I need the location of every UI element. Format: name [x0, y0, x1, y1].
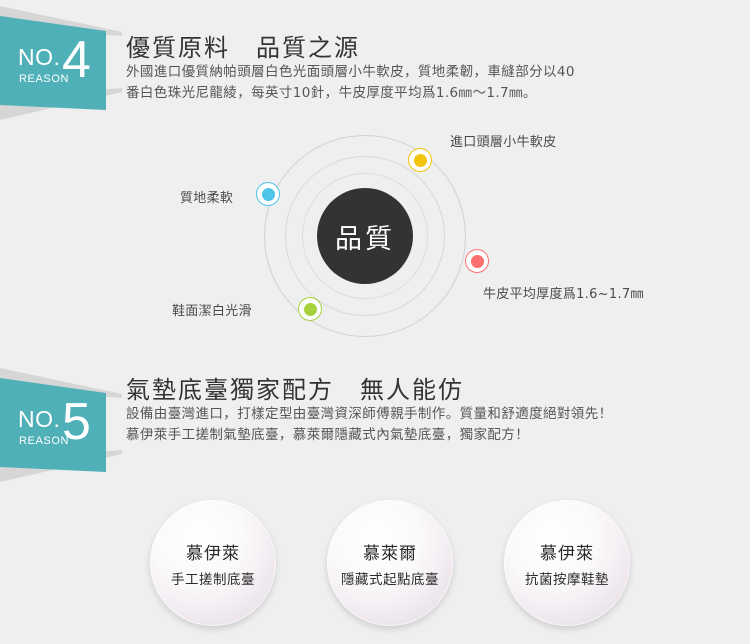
section-5-body: 設備由臺灣進口，打樣定型由臺灣資深師傅親手制作。質量和舒適度絕對領先！ 慕伊萊手…: [126, 404, 746, 446]
orbit-node-red[interactable]: [466, 250, 488, 272]
orbit-label-yellow: 進口頭層小牛軟皮: [450, 131, 556, 150]
orbit-node-yellow[interactable]: [409, 149, 431, 171]
orbit-node-green[interactable]: [299, 298, 321, 320]
orbit-node-cyan[interactable]: [257, 183, 279, 205]
pearl-card-1[interactable]: 慕伊萊 手工搓制底臺: [150, 500, 276, 626]
section-5-title: 氣墊底臺獨家配方 無人能仿: [126, 370, 464, 405]
quality-orbit-diagram: 品質: [255, 126, 475, 346]
badge-no-label: NO.: [18, 408, 60, 431]
orbit-label-red: 牛皮平均厚度爲1.6~1.7㎜: [483, 283, 644, 302]
badge-no-label: NO.: [18, 46, 60, 69]
badge-number: 4: [62, 34, 91, 86]
section-4-body: 外國進口優質納帕頭層白色光面頭層小牛軟皮，質地柔韌，車縫部分以40 番白色珠光尼…: [126, 62, 746, 104]
pearl-desc: 抗菌按摩鞋墊: [525, 568, 609, 588]
promo-page: NO. REASON 4 優質原料 品質之源 外國進口優質納帕頭層白色光面頭層小…: [0, 0, 750, 644]
reason-badge-4: NO. REASON 4: [0, 0, 130, 125]
pearl-brand: 慕萊爾: [363, 539, 417, 564]
orbit-label-cyan: 質地柔軟: [180, 187, 233, 206]
pearl-card-2[interactable]: 慕萊爾 隱藏式起點底臺: [327, 500, 453, 626]
badge-number: 5: [62, 396, 91, 448]
pearl-card-3[interactable]: 慕伊萊 抗菌按摩鞋墊: [504, 500, 630, 626]
orbit-label-green: 鞋面潔白光滑: [172, 300, 252, 319]
orbit-core: 品質: [317, 188, 413, 284]
orbit-core-text: 品質: [335, 217, 395, 256]
pearl-desc: 手工搓制底臺: [171, 568, 255, 588]
section-4-title: 優質原料 品質之源: [126, 28, 360, 63]
pearl-brand: 慕伊萊: [540, 539, 594, 564]
pearl-desc: 隱藏式起點底臺: [341, 568, 439, 588]
reason-badge-5: NO. REASON 5: [0, 362, 130, 487]
pearl-brand: 慕伊萊: [186, 539, 240, 564]
